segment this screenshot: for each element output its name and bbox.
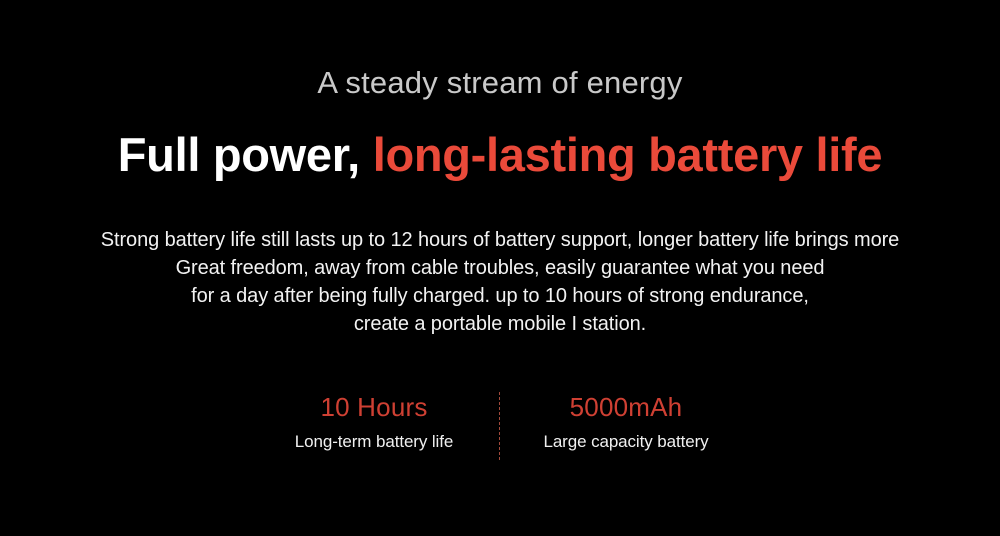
stat-value-capacity: 5000mAh bbox=[511, 390, 741, 424]
stat-label-battery-life: Long-term battery life bbox=[259, 430, 489, 453]
description-line-3: for a day after being fully charged. up … bbox=[0, 282, 1000, 310]
description-line-4: create a portable mobile I station. bbox=[0, 310, 1000, 338]
description-paragraph: Strong battery life still lasts up to 12… bbox=[0, 226, 1000, 338]
stat-divider bbox=[499, 392, 501, 460]
eyebrow-text: A steady stream of energy bbox=[0, 62, 1000, 104]
description-line-1: Strong battery life still lasts up to 12… bbox=[0, 226, 1000, 254]
description-line-2: Great freedom, away from cable troubles,… bbox=[0, 254, 1000, 282]
headline-accent-part: long-lasting battery life bbox=[373, 128, 883, 181]
stat-value-battery-life: 10 Hours bbox=[259, 390, 489, 424]
promo-banner: A steady stream of energy Full power, lo… bbox=[0, 0, 1000, 536]
stat-block-battery-life: 10 Hours Long-term battery life bbox=[259, 390, 489, 453]
headline: Full power, long-lasting battery life bbox=[0, 126, 1000, 184]
stat-label-capacity: Large capacity battery bbox=[511, 430, 741, 453]
headline-white-part: Full power, bbox=[118, 128, 373, 181]
stat-block-capacity: 5000mAh Large capacity battery bbox=[511, 390, 741, 453]
stats-row: 10 Hours Long-term battery life 5000mAh … bbox=[0, 390, 1000, 460]
